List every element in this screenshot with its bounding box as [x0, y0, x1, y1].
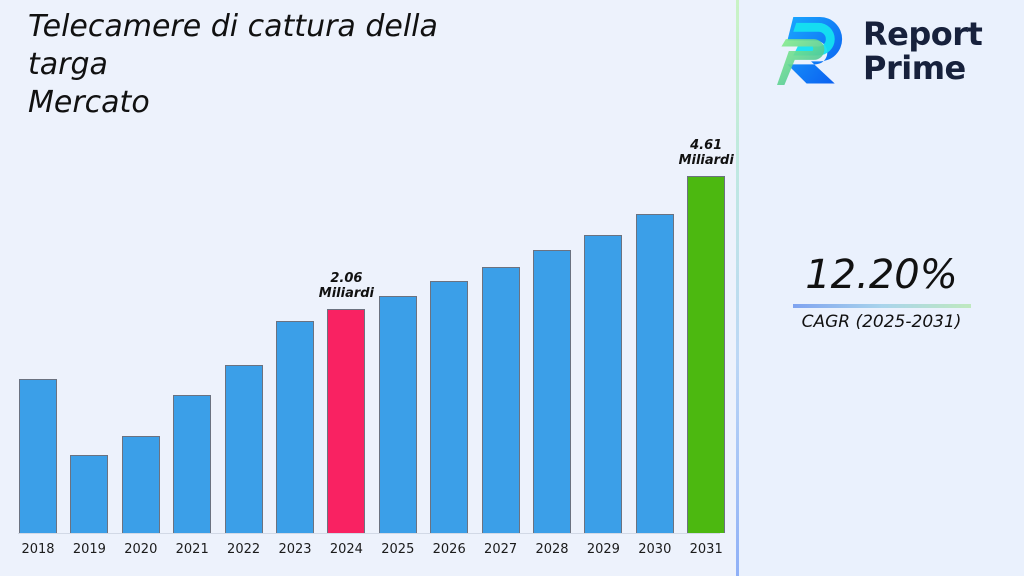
- bar-2029: [584, 235, 622, 533]
- cagr-block: 12.20% CAGR (2025-2031): [739, 252, 1024, 332]
- bar-2025: [379, 296, 417, 533]
- brand-logo-line2: Prime: [863, 51, 982, 85]
- x-axis: 2018201920202021202220232024202520262027…: [0, 534, 737, 576]
- bar-2021: [173, 395, 211, 533]
- bar-2026: [430, 281, 468, 533]
- bar-2027: [482, 267, 520, 533]
- side-panel: Report Prime 12.20% CAGR (2025-2031): [739, 0, 1024, 576]
- cagr-divider-rule: [793, 304, 971, 308]
- bar-plot-area: 2.06 Miliardi4.61 Miliardi: [0, 0, 737, 540]
- chart-panel: Telecamere di cattura della targa Mercat…: [0, 0, 737, 576]
- bar-2022: [225, 365, 263, 533]
- report-prime-logo-mark-icon: [777, 12, 851, 90]
- cagr-caption: CAGR (2025-2031): [739, 312, 1024, 332]
- bar-2018: [19, 379, 57, 533]
- bar-2020: [122, 436, 160, 533]
- brand-logo-line1: Report: [863, 17, 982, 51]
- brand-logo-text: Report Prime: [863, 17, 982, 85]
- bar-2031: [687, 176, 725, 533]
- bar-2023: [276, 321, 314, 533]
- bar-2024: [327, 309, 365, 533]
- bar-2030: [636, 214, 674, 533]
- cagr-value: 12.20%: [739, 252, 1024, 298]
- x-tick-2031: 2031: [676, 542, 736, 557]
- bar-2019: [70, 455, 108, 533]
- brand-logo: Report Prime: [777, 12, 982, 90]
- bar-2028: [533, 250, 571, 533]
- screenshot-root: Telecamere di cattura della targa Mercat…: [0, 0, 1024, 576]
